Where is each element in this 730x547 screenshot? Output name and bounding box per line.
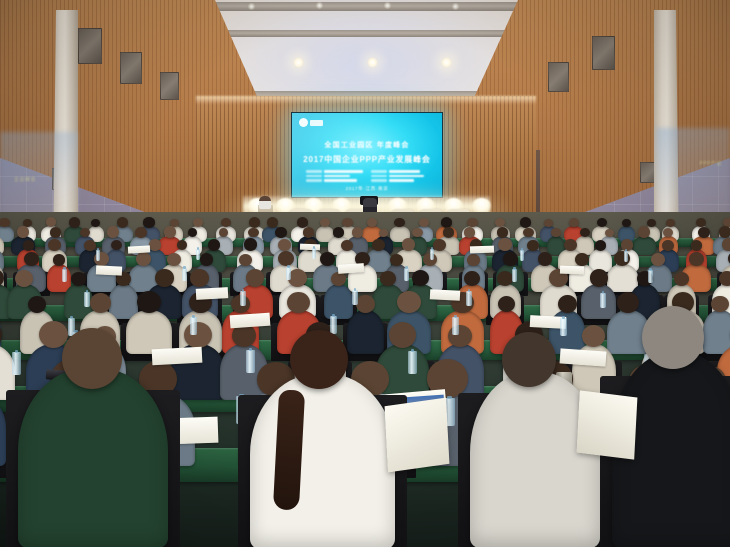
water-bottle [96,250,100,261]
water-bottle [430,249,434,260]
audience-area [0,212,730,547]
document-paper [300,244,320,251]
audience-member-head [595,240,607,251]
water-bottle [512,269,517,282]
slide-title: 全国工业园区 年度峰会 [292,140,442,150]
water-bottle [190,317,197,335]
document-paper [128,245,150,253]
audience-member-head [696,218,705,227]
audience-member-head [275,227,286,238]
audience-member-head [590,269,608,286]
audience-member-head [248,228,258,238]
water-bottle [196,249,200,260]
audience-member-head [719,271,730,286]
audience-member [347,310,383,354]
audience-member-head [190,269,209,287]
audience-member-head [0,218,10,228]
slide-subtitle: 2017中国企业PPP产业发展峰会 [292,154,442,165]
audience-member-head [267,217,278,227]
conference-hall-photo: 企业峰会 PPP产业 全国工业园区 年度峰会 2017中国企业PPP产业发展峰会 [0,0,730,547]
audience-member-head [117,217,128,227]
attendee-dark-green-shirt-head [62,328,122,389]
document-paper [470,246,494,254]
right-side-projection-text: PPP产业 [699,160,722,167]
ceiling-accent-light [316,2,323,9]
water-bottle [452,317,459,335]
attendee-black-tshirt-man-head [642,306,704,369]
audience-member-head [551,228,560,237]
audience-member-head [39,321,68,348]
audience-member-head [467,218,478,228]
audience-member-head [239,254,252,266]
audience-member-head [28,296,46,313]
audience-member-head [647,219,656,227]
wall-vent [120,52,142,84]
document-paper [96,265,122,275]
audience-member-head [698,227,710,238]
attendee-gray-polo-man-head [502,332,556,387]
held-document [385,398,450,473]
audience-member-head [143,217,154,227]
wall-vent [548,62,569,92]
water-bottle [62,269,67,282]
water-bottle [286,267,291,280]
water-bottle [240,291,246,306]
stage-wash-lamp [472,198,491,213]
document-paper [338,263,365,274]
audience-member-head [48,239,61,251]
audience-member-head [356,295,375,313]
audience-member-head [200,253,213,265]
audience-member-head [137,291,161,313]
held-document [577,390,638,459]
ceiling-downlight [293,57,304,68]
document-paper [230,313,271,329]
water-bottle [330,316,337,334]
audience-member-head [464,227,475,238]
audience-member-head [164,226,176,237]
wall-vent [592,36,615,70]
audience-member-head [419,218,429,227]
left-side-projection-text: 企业峰会 [14,176,36,183]
audience-member-head [441,217,452,227]
audience-member-head [689,252,705,267]
slide-detail-column [306,170,363,184]
audience-member-head [538,252,553,266]
audience-member-head [184,322,212,348]
audience-member-head [412,228,422,238]
water-bottle [560,318,567,336]
water-bottle [600,293,606,308]
presenter [259,196,271,209]
audience-member-head [597,218,607,227]
ceiling-accent-light [384,2,391,9]
audience-member-head [523,228,534,238]
document-paper [560,348,607,366]
audience-member-head [390,254,403,266]
water-bottle [408,351,417,374]
audience-member [607,264,638,292]
audience-member [581,284,616,319]
audience-member-head [107,226,119,237]
audience-member-head [84,240,96,251]
audience-member-head [443,227,455,238]
attendee-white-shirt-woman-head [290,330,348,389]
audience-member-head [135,227,146,238]
audience-member [703,310,730,354]
audience-member-head [341,240,353,251]
audience-member-head [397,291,420,313]
water-bottle [404,268,409,281]
audience-member-head [50,227,61,237]
water-bottle [312,248,316,259]
audience-member-head [520,217,531,227]
audience-member-head [17,226,29,238]
audience-member-head [666,219,675,227]
ceiling-accent-light [452,3,459,10]
water-bottle [520,250,524,261]
wall-vent [78,28,102,64]
audience-member-head [662,240,673,251]
water-bottle [84,292,90,307]
audience-member-head [467,254,479,266]
attendee-dark-green-shirt [18,368,168,547]
audience-member-head [352,227,363,237]
audience-member-head [149,239,161,250]
audience-member-head [558,295,577,313]
water-bottle [246,350,255,373]
audience-member-head [155,269,173,286]
projection-screen-surface: 全国工业园区 年度峰会 2017中国企业PPP产业发展峰会 2017年·江苏·南… [292,113,442,197]
audience-member-head [297,217,308,228]
audience-member-head [24,252,40,267]
water-bottle [182,268,187,281]
slide-detail-column [371,170,428,184]
document-paper [152,347,203,366]
audience-member-head [246,269,264,286]
audience-member-head [69,217,80,227]
organizer-logo-icon [299,118,323,127]
audience-member-head [722,238,730,250]
audience-member-head [564,239,577,251]
document-paper [196,287,229,300]
audience-member-head [389,322,417,348]
audience-member-head [575,253,589,266]
water-bottle [648,270,653,283]
audience-member-head [333,227,344,238]
audience-member-head [527,240,539,251]
audience-member-head [136,252,151,266]
ceiling-downlight [367,57,378,68]
audience-member-head [719,226,730,237]
water-bottle [352,290,358,305]
water-bottle [466,291,472,306]
audience-member-head [691,240,702,251]
document-paper [430,289,460,301]
audience-member-head [605,229,614,238]
audience-member [126,310,171,354]
audience-member-head [249,217,260,227]
audience-member-head [15,270,33,287]
audience-member-head [580,228,590,237]
audience-member-head [53,254,66,266]
audience-member-head [402,238,416,251]
audience-member-head [621,239,633,250]
audience-member-head [498,238,511,251]
ceiling-beam [188,2,548,11]
audience-member-head [23,240,34,251]
audience-member-head [208,239,221,251]
stage-backdrop-uplight [196,96,536,104]
slide-detail-columns [306,170,428,184]
audience-member-head [433,239,446,251]
audience-member-head [244,238,257,250]
wall-vent [160,72,179,100]
audience-member-head [638,226,650,237]
audience-member-head [497,227,508,237]
audience-member-head [278,239,291,251]
audience-member [324,284,354,319]
audience-member-head [503,252,518,266]
ceiling-beam [200,30,540,37]
water-bottle [12,352,21,375]
audience-member-head [303,227,314,237]
attendee-white-shirt-woman [250,374,395,547]
ceiling-downlight [441,57,452,68]
audience-member-head [167,253,181,266]
audience-member-head [372,239,385,251]
water-bottle [624,251,628,262]
document-paper [560,266,584,275]
audience-member-head [90,293,111,313]
ceiling-accent-light [248,3,255,10]
